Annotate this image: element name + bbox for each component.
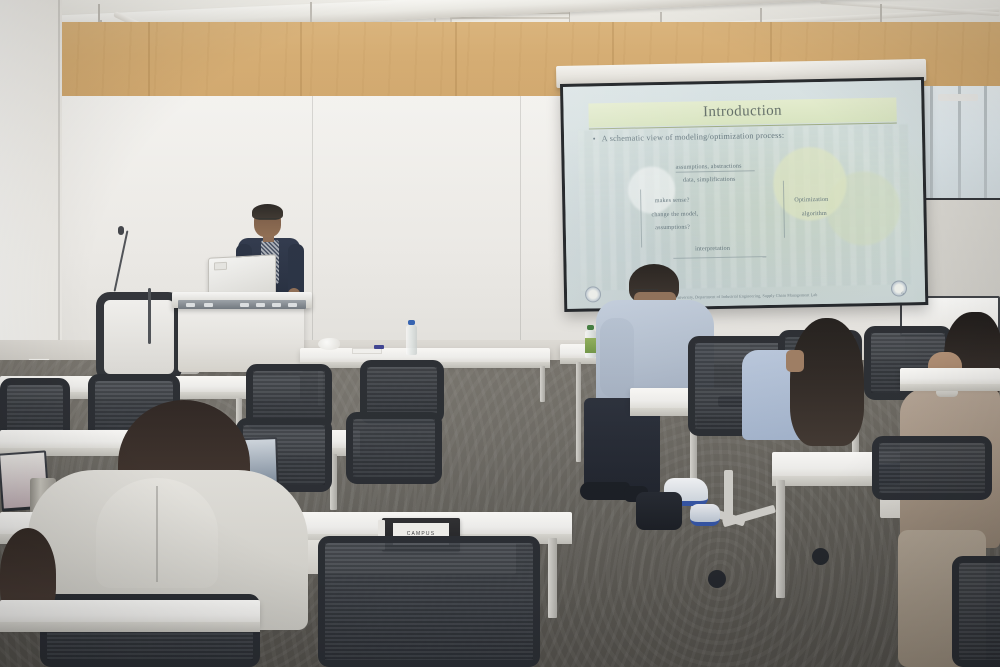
light-hanger (310, 2, 312, 22)
desk-leg (576, 362, 581, 462)
diagram-label-interpretation: interpretation (695, 246, 730, 253)
slide-background-photo (578, 125, 910, 291)
sneaker (690, 504, 720, 526)
slide-title: Introduction (588, 97, 896, 127)
green-tea-bottle (585, 330, 596, 358)
projection-screen: Introduction •A schematic view of modeli… (560, 77, 928, 312)
slide-page-number: 6 (901, 290, 903, 295)
bullet-marker: • (593, 134, 596, 143)
attendee-arm (600, 318, 634, 398)
desk-leg (548, 538, 557, 618)
podium-control-panel (178, 300, 306, 309)
wall-seam (58, 0, 60, 392)
podium-chair (96, 292, 182, 382)
diagram-label-makes-sense: makes sense? (655, 198, 690, 205)
desk-edge (900, 384, 1000, 391)
desk-edge (0, 622, 260, 632)
chair (346, 412, 442, 484)
attendee-face (786, 350, 804, 372)
cloth-item (318, 338, 340, 350)
projected-slide: Introduction •A schematic view of modeli… (563, 80, 925, 309)
diagram-label-change-model: change the model, (651, 211, 698, 218)
attendee-leg (636, 492, 682, 530)
pen (374, 345, 384, 349)
chair-caster (812, 548, 829, 565)
slide-title-band: Introduction (588, 97, 896, 127)
microphone-stand (148, 288, 151, 344)
wall-seam (520, 96, 521, 348)
diagram-label-assumptions-q: assumptions? (655, 224, 690, 231)
attendee-shoe (580, 482, 630, 500)
microphone-icon (118, 226, 124, 235)
classroom-lecture-photo: Introduction •A schematic view of modeli… (0, 0, 1000, 667)
chair (872, 436, 992, 500)
hood-seam (156, 486, 158, 582)
diagram-label-data: data, simplifications (683, 177, 736, 184)
water-bottle (406, 325, 417, 355)
glasses-icon (634, 289, 658, 293)
podium (178, 300, 304, 372)
attendee-hair (790, 318, 864, 446)
diagram-label-optimization: Optimization (794, 197, 828, 204)
chair (318, 536, 540, 667)
wall-seam (312, 96, 313, 362)
desk-leg (776, 480, 785, 598)
chair (952, 556, 1000, 667)
desk-leg (540, 366, 545, 402)
chair-caster (708, 570, 726, 588)
glasses-icon (256, 218, 279, 223)
diagram-label-algorithm: algorithm (802, 211, 827, 217)
